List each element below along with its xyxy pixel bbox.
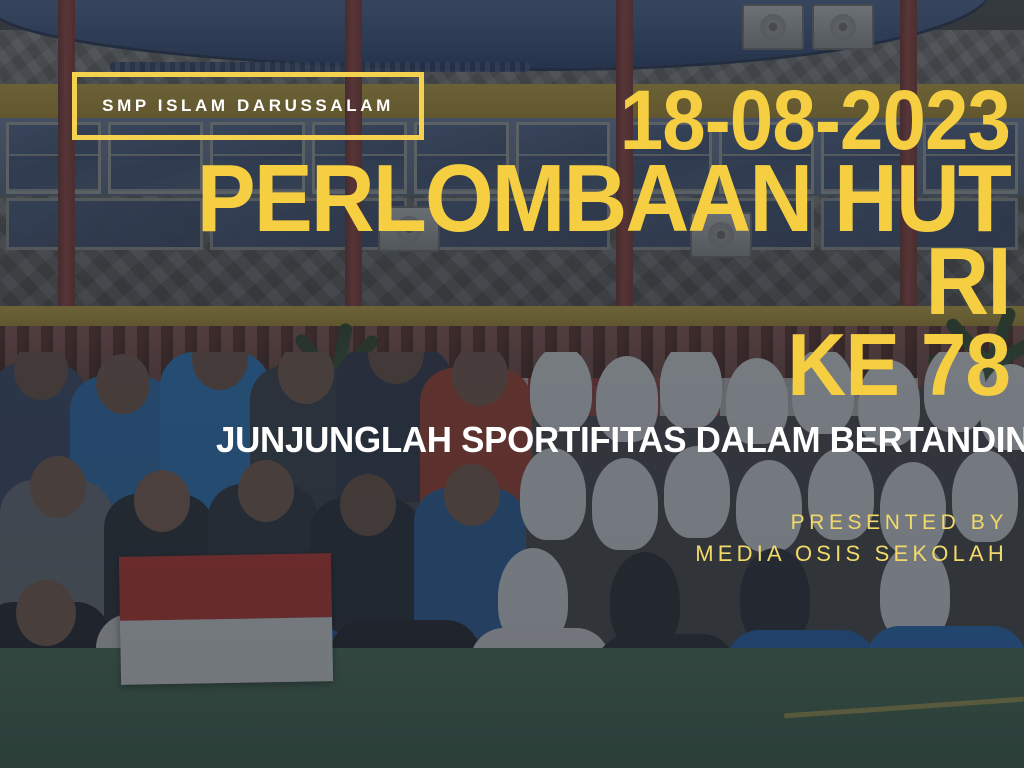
credit-organizer: MEDIA OSIS SEKOLAH — [695, 538, 1008, 570]
credit-block: PRESENTED BY MEDIA OSIS SEKOLAH — [695, 508, 1008, 570]
event-title-line2: KE 78 — [80, 327, 1010, 403]
poster-canvas: SMP ISLAM DARUSSALAM 18-08-2023 PERLOMBA… — [0, 0, 1024, 768]
event-title-line1: PERLOMBAAN HUT RI — [90, 158, 1010, 323]
event-motto: JUNJUNGLAH SPORTIFITAS DALAM BERTANDING — [216, 419, 992, 461]
headline-block: 18-08-2023 PERLOMBAAN HUT RI KE 78 — [10, 84, 1010, 403]
credit-presented-by: PRESENTED BY — [695, 508, 1008, 538]
